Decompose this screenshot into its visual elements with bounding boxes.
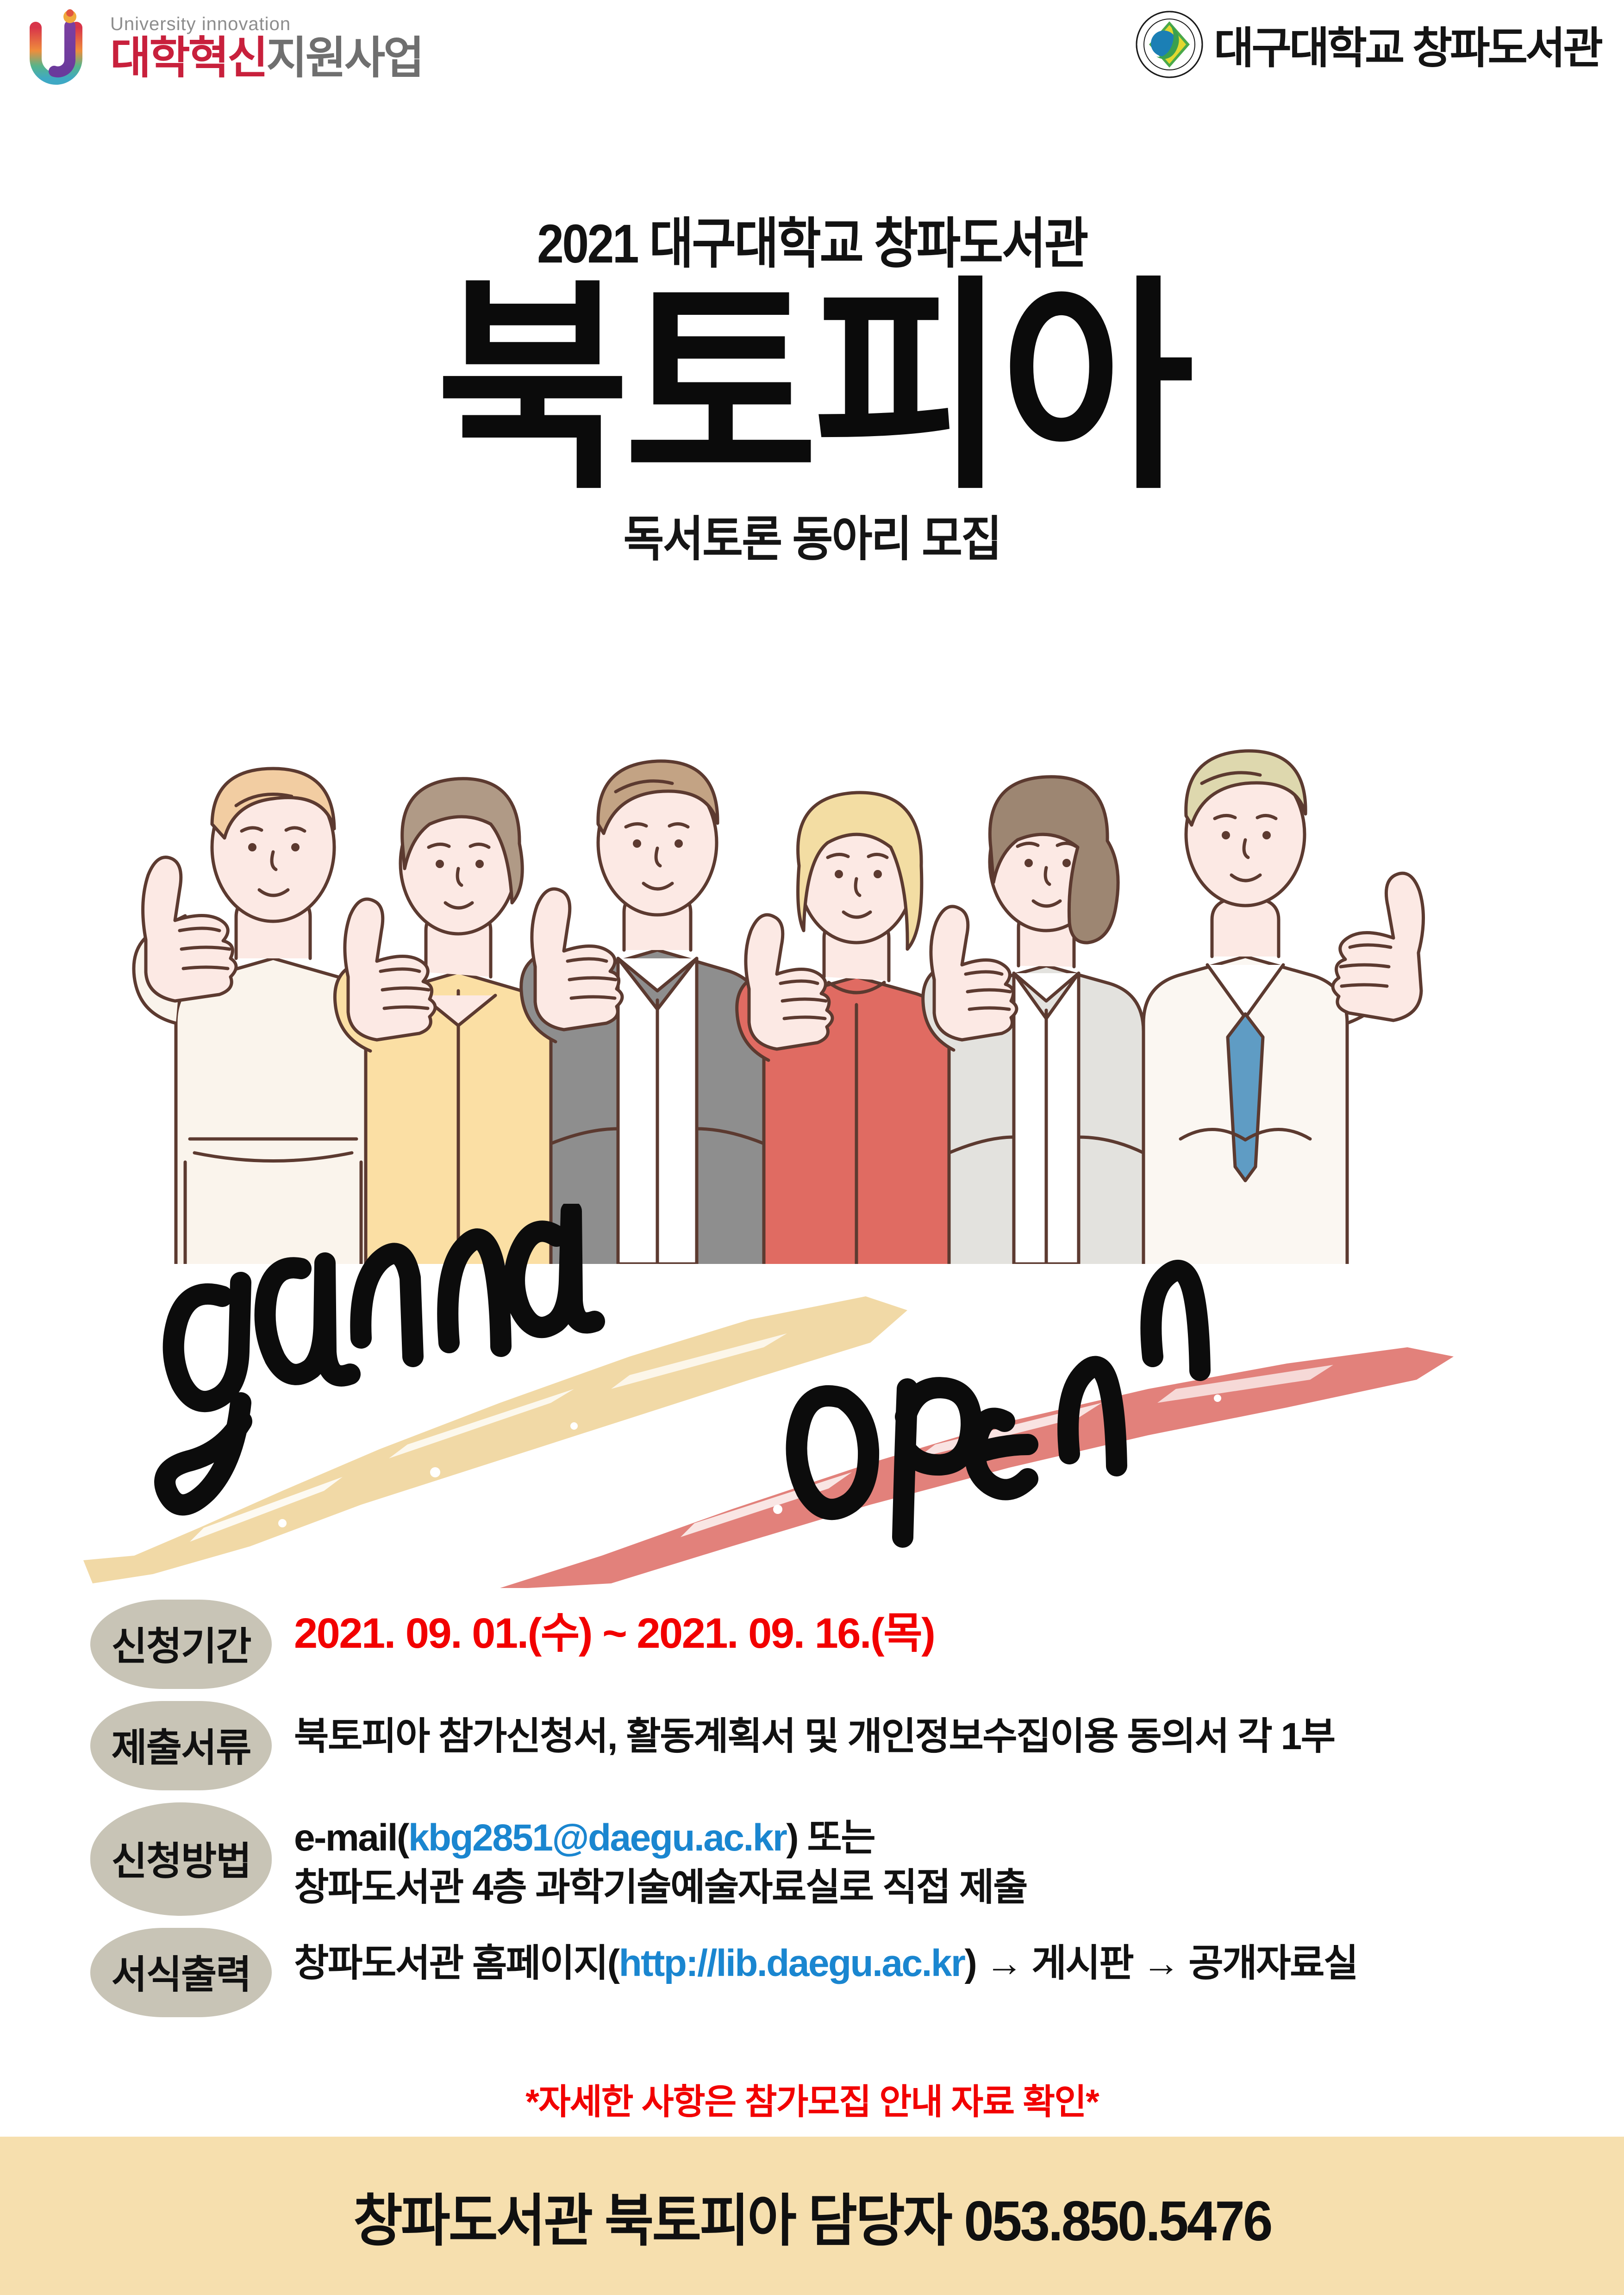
value-application-period: 2021. 09. 01.(수) ~ 2021. 09. 16.(목)	[294, 1600, 934, 1662]
daegu-university-emblem-icon	[1135, 10, 1204, 79]
info-row-application-period: 신청기간 2021. 09. 01.(수) ~ 2021. 09. 16.(목)	[0, 1600, 1624, 1689]
info-row-documents: 제출서류 북토피아 참가신청서, 활동계획서 및 개인정보수집이용 동의서 각 …	[0, 1701, 1624, 1790]
poster-root: University innovation 대학혁신지원사업 대구대학교 창파도…	[0, 0, 1624, 2295]
detail-note: *자세한 사항은 참가모집 안내 자료 확인*	[0, 2073, 1624, 2124]
label-documents: 제출서류	[90, 1701, 272, 1790]
email-prefix: e-mail(	[294, 1817, 408, 1859]
grand-open-artwork	[83, 1204, 1555, 1588]
university-innovation-logo: University innovation 대학혁신지원사업	[25, 8, 423, 87]
email-link[interactable]: kbg2851@daegu.ac.kr	[408, 1817, 786, 1859]
logo-kr-gray: 지원사업	[266, 33, 422, 83]
university-innovation-en-text: University innovation	[110, 15, 423, 33]
label-application-period: 신청기간	[90, 1600, 272, 1689]
poster-title-block: 2021 대구대학교 창파도서관 북토피아 독서토론 동아리 모집	[0, 199, 1624, 569]
info-row-form-download: 서식출력 창파도서관 홈페이지(http://lib.daegu.ac.kr) …	[0, 1928, 1624, 2017]
daegu-library-logo: 대구대학교 창파도서관	[1135, 10, 1601, 79]
info-section: 신청기간 2021. 09. 01.(수) ~ 2021. 09. 16.(목)…	[0, 1600, 1624, 2029]
daegu-library-wordmark: 대구대학교 창파도서관	[1214, 13, 1601, 76]
university-innovation-kr-text: 대학혁신지원사업	[110, 36, 423, 81]
how-to-apply-line2: 창파도서관 4층 과학기술예술자료실로 직접 제출	[294, 1863, 1027, 1913]
page-title: 북토피아	[57, 279, 1567, 497]
university-innovation-u-mark-icon	[25, 8, 102, 87]
value-form-download: 창파도서관 홈페이지(http://lib.daegu.ac.kr) → 게시판…	[294, 1928, 1357, 1989]
label-how-to-apply: 신청방법	[90, 1802, 272, 1916]
university-innovation-wordmark: University innovation 대학혁신지원사업	[110, 15, 423, 81]
contact-banner: 창파도서관 북토피아 담당자 053.850.5476	[0, 2137, 1624, 2295]
people-thumbs-up-illustration	[120, 607, 1509, 1264]
logo-kr-red: 대학혁신	[110, 33, 266, 83]
how-to-apply-line1: e-mail(kbg2851@daegu.ac.kr) 또는	[294, 1813, 1027, 1863]
email-suffix: ) 또는	[786, 1817, 874, 1859]
contact-banner-text: 창파도서관 북토피아 담당자 053.850.5476	[353, 2175, 1271, 2257]
homepage-prefix: 창파도서관 홈페이지(	[294, 1942, 619, 1984]
value-how-to-apply: e-mail(kbg2851@daegu.ac.kr) 또는 창파도서관 4층 …	[294, 1802, 1027, 1912]
info-row-how-to-apply: 신청방법 e-mail(kbg2851@daegu.ac.kr) 또는 창파도서…	[0, 1802, 1624, 1916]
label-form-download: 서식출력	[90, 1928, 272, 2017]
library-homepage-link[interactable]: http://lib.daegu.ac.kr	[619, 1942, 965, 1984]
value-documents: 북토피아 참가신청서, 활동계획서 및 개인정보수집이용 동의서 각 1부	[294, 1701, 1335, 1762]
title-subtitle: 독서토론 동아리 모집	[65, 500, 1559, 569]
homepage-path: ) → 게시판 → 공개자료실	[964, 1942, 1357, 1984]
